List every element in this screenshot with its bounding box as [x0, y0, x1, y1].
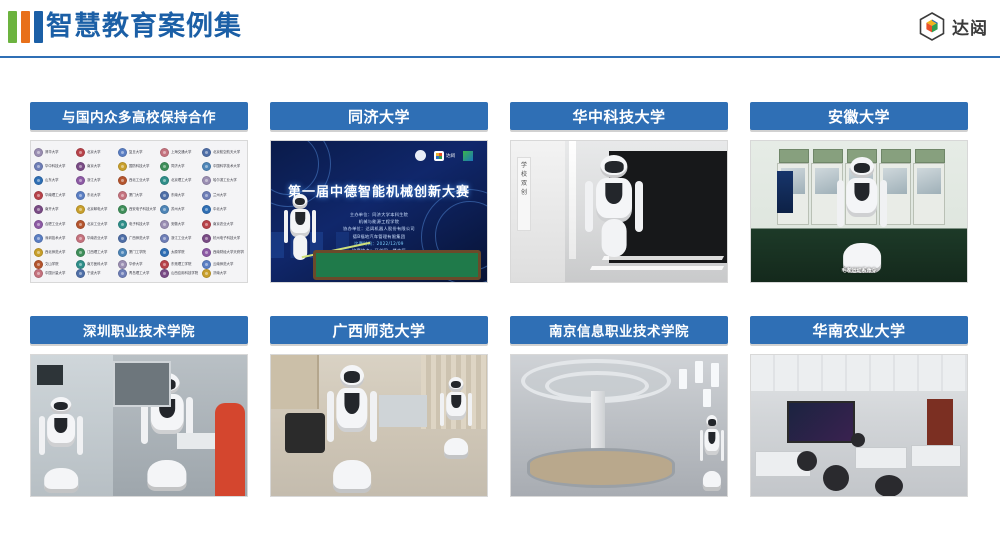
university-name: 西北工业大学: [129, 178, 149, 183]
case-card[interactable]: 深圳职业技术学院: [30, 316, 248, 497]
university-seal-icon: [202, 191, 211, 200]
university-seal-icon: [160, 162, 169, 171]
classroom-door: [927, 399, 953, 449]
card-media: 达闼 第一届中德智能机械创新大赛 主办单位：同济大学本科生院 机械与能源工程学院…: [270, 140, 488, 283]
page-title: 智慧教育案例集: [46, 9, 242, 45]
university-seal-icon: [118, 220, 127, 229]
university-name: 复旦大学: [129, 150, 143, 155]
university-seal-icon: [76, 191, 85, 200]
university-seal-icon: [202, 269, 211, 278]
university-name: 南开大学: [45, 207, 59, 212]
university-logo-item: 苏州大学: [160, 203, 202, 217]
robot-figure: [699, 415, 725, 491]
computer-classroom-image: [751, 355, 967, 496]
cloudminds-logo: 达闼: [434, 151, 455, 161]
university-logo-item: 厦门工学院: [118, 246, 160, 260]
split-robot-demo-image: [31, 355, 247, 496]
card-media: 学校双创: [510, 140, 728, 283]
university-logo-item: 广西师范大学: [118, 231, 160, 245]
case-card[interactable]: 南京信息职业技术学院: [510, 316, 728, 497]
university-logo-item: 北京邮电大学: [76, 203, 118, 217]
university-name: 广西师范大学: [129, 236, 149, 241]
university-name: 厦门工学院: [129, 250, 146, 255]
robot-figure: [835, 157, 889, 273]
university-name: 浙江大学: [87, 178, 101, 183]
university-logo-item: 华南农业大学: [76, 231, 118, 245]
university-logo-item: 杭州电子科技大学: [202, 231, 244, 245]
university-seal-icon: [34, 220, 43, 229]
university-seal-icon: [76, 205, 85, 214]
robot-figure: [37, 397, 85, 493]
university-logo-item: 山东大学: [34, 174, 76, 188]
university-name: 华中科技大学: [45, 164, 65, 169]
university-logo-item: 浙江大学: [76, 174, 118, 188]
university-seal-icon: [202, 234, 211, 243]
university-name: 兰州大学: [213, 193, 227, 198]
university-logo-item: 云南师范大学: [202, 260, 244, 269]
university-seal-icon: [202, 220, 211, 229]
university-logo-item: 东南大学: [160, 188, 202, 202]
lab-cabinet: [913, 163, 945, 225]
university-name: 东莞理工学院: [171, 262, 191, 267]
card-media: [750, 354, 968, 497]
university-name: 杭州电子科技大学: [213, 236, 240, 241]
card-media: [270, 354, 488, 497]
university-name: 安徽大学: [171, 222, 185, 227]
ceiling-light: [695, 361, 703, 383]
university-logo-item: 东莞理工学院: [160, 260, 202, 269]
university-logo-item: 青岛理工大学: [118, 269, 160, 278]
university-name: 南京大学: [87, 164, 101, 169]
ceiling-light: [679, 369, 687, 389]
storage-box: [779, 149, 809, 163]
university-seal-icon: [76, 234, 85, 243]
card-title-with-partners: 与国内众多高校保持合作: [30, 102, 248, 130]
university-name: 北京航空航天大学: [213, 150, 240, 155]
university-logo-item: 西安电子科技大学: [118, 203, 160, 217]
computer-desk: [911, 445, 961, 467]
robot-figure: [283, 194, 317, 276]
university-seal-icon: [415, 150, 426, 161]
university-logo-item: 浙江工业大学: [160, 231, 202, 245]
billiard-table-graphic: [313, 250, 481, 280]
accent-bar-orange: [21, 11, 30, 43]
university-seal-icon: [76, 162, 85, 171]
computer-desk: [855, 447, 907, 469]
card-title-anhui: 安徽大学: [750, 102, 968, 130]
university-logo-item: 中北大学: [202, 203, 244, 217]
university-seal-icon: [160, 205, 169, 214]
university-seal-icon: [76, 260, 85, 269]
university-name: 文山学院: [45, 262, 59, 267]
university-logo-item: 厦门大学: [118, 188, 160, 202]
cube-hexagon-icon: [919, 12, 945, 41]
competition-poster-image: 达闼 第一届中德智能机械创新大赛 主办单位：同济大学本科生院 机械与能源工程学院…: [271, 141, 487, 282]
university-name: 山西应用科技学院: [171, 271, 198, 276]
large-display-screen: [787, 401, 855, 443]
case-card-grid: 与国内众多高校保持合作 清华大学北京大学复旦大学上海交通大学北京航空航天大学华中…: [30, 102, 970, 497]
case-card[interactable]: 同济大学 达闼 第一届中德智: [270, 102, 488, 283]
university-logo-item: 太原学院: [160, 246, 202, 260]
atrium-robot-image: [511, 355, 727, 496]
university-seal-icon: [34, 191, 43, 200]
university-seal-icon: [118, 176, 127, 185]
storage-box: [915, 149, 945, 163]
hallway-robot-image: 学校双创: [511, 141, 727, 282]
card-title-guangxi-normal: 广西师范大学: [270, 316, 488, 344]
wall-monitor: [37, 365, 63, 385]
university-logo-item: 北京大学: [76, 145, 118, 159]
accent-bar-blue: [34, 11, 43, 43]
university-seal-icon: [118, 205, 127, 214]
classroom-robots-image: [271, 355, 487, 496]
slide-page: 智慧教育案例集 达闼 与国内众多高校保持合作 清华大学北京大学复旦大学上海交通大…: [0, 0, 1000, 538]
university-name: 东南大学: [171, 193, 185, 198]
card-title-nanjing-vocational: 南京信息职业技术学院: [510, 316, 728, 344]
university-name: 西北师范大学: [45, 250, 65, 255]
card-title-tongji: 同济大学: [270, 102, 488, 130]
university-seal-icon: [160, 234, 169, 243]
card-media: 毛孝运动系命令: [750, 140, 968, 283]
image-caption: 毛孝运动系命令: [751, 267, 967, 274]
university-seal-icon: [160, 148, 169, 157]
university-name: 华南理工大学: [45, 193, 65, 198]
university-logo-item: 深圳技术大学: [34, 231, 76, 245]
brand-name: 达闼: [952, 14, 988, 39]
university-name: 中国科学技术大学: [213, 164, 240, 169]
university-seal-icon: [118, 148, 127, 157]
university-seal-icon: [34, 205, 43, 214]
university-name: 北京大学: [87, 150, 101, 155]
case-card[interactable]: 广西师范大学: [270, 316, 488, 497]
university-logo-item: 北京理工大学: [160, 174, 202, 188]
university-name: 青岛理工大学: [129, 271, 149, 276]
university-name: 上海交通大学: [171, 150, 191, 155]
university-name: 山东大学: [45, 178, 59, 183]
card-title-shenzhen-polytechnic: 深圳职业技术学院: [30, 316, 248, 344]
university-logo-item: 济南大学: [202, 269, 244, 278]
window-frame: [113, 361, 171, 407]
reception-counter: [527, 448, 675, 488]
case-card[interactable]: 华中科技大学 学校双创: [510, 102, 728, 283]
university-logo-item: 山西应用科技学院: [160, 269, 202, 278]
university-seal-icon: [202, 176, 211, 185]
university-name: 深圳技术大学: [45, 236, 65, 241]
university-logo-item: 哈尔滨工业大学: [202, 174, 244, 188]
university-logo-item: 南京大学: [76, 159, 118, 173]
sponsor-logo-text: 达闼: [446, 153, 455, 159]
university-name: 苏州大学: [171, 207, 185, 212]
university-seal-icon: [34, 176, 43, 185]
university-seal-icon: [202, 205, 211, 214]
lab-cabinets-robot-image: 毛孝运动系命令: [751, 141, 967, 282]
university-name: 浙江工业大学: [171, 236, 191, 241]
university-name: 合肥工业大学: [45, 222, 65, 227]
university-name: 清华大学: [45, 150, 59, 155]
university-seal-icon: [118, 260, 127, 269]
university-seal-icon: [202, 162, 211, 171]
university-name: 厦门大学: [129, 193, 143, 198]
seated-student: [875, 475, 903, 497]
university-name: 哈尔滨工业大学: [213, 178, 237, 183]
sign-text: 学校双创: [519, 161, 529, 197]
page-header: 智慧教育案例集 达闼: [0, 0, 1000, 57]
ceiling-light: [703, 389, 711, 407]
podium-table: [379, 395, 427, 427]
seated-student: [797, 451, 817, 471]
poster-sponsor-logos: 达闼: [415, 150, 473, 161]
demo-table: [177, 433, 219, 449]
robot-figure: [583, 155, 645, 283]
accent-bars: [8, 11, 43, 43]
university-seal-icon: [34, 248, 43, 257]
university-seal-icon: [160, 260, 169, 269]
university-logo-item: 北京工业大学: [76, 217, 118, 231]
university-seal-icon: [160, 220, 169, 229]
robot-figure: [325, 365, 379, 493]
person-in-red-shirt: [215, 403, 245, 497]
university-name: 华南农业大学: [87, 236, 107, 241]
university-logo-item: 上海交通大学: [160, 145, 202, 159]
university-logo-item: 西北师范大学: [34, 246, 76, 260]
university-seal-icon: [160, 176, 169, 185]
university-seal-icon: [76, 176, 85, 185]
university-seal-icon: [118, 234, 127, 243]
card-media: [510, 354, 728, 497]
university-logo-item: 北京航空航天大学: [202, 145, 244, 159]
university-seal-icon: [118, 162, 127, 171]
university-logo-item: 安徽大学: [160, 217, 202, 231]
university-logo-item: 中国计量大学: [34, 269, 76, 278]
university-name: 中国计量大学: [45, 271, 65, 276]
university-name: 同济大学: [171, 164, 185, 169]
university-logo-item: 西北工业大学: [118, 174, 160, 188]
university-logo-item: 南方医科大学: [76, 260, 118, 269]
university-logo-wall: 清华大学北京大学复旦大学上海交通大学北京航空航天大学华中科技大学南京大学国防科技…: [31, 141, 247, 282]
card-media: 清华大学北京大学复旦大学上海交通大学北京航空航天大学华中科技大学南京大学国防科技…: [30, 140, 248, 283]
university-logo-item: 兰州大学: [202, 188, 244, 202]
university-seal-icon: [202, 260, 211, 269]
university-name: 中北大学: [213, 207, 227, 212]
university-name: 江西理工大学: [87, 250, 107, 255]
university-logo-item: 电子科技大学: [118, 217, 160, 231]
partner-logo-icon: [463, 151, 473, 161]
office-chair: [285, 413, 325, 453]
university-seal-icon: [34, 234, 43, 243]
university-name: 南方医科大学: [87, 262, 107, 267]
university-name: 宁波大学: [87, 271, 101, 276]
cube-hexagon-icon: [434, 151, 444, 161]
card-title-hust: 华中科技大学: [510, 102, 728, 130]
university-seal-icon: [160, 191, 169, 200]
university-logo-item: 南京农业大学: [202, 217, 244, 231]
university-logo-item: 合肥工业大学: [34, 217, 76, 231]
university-name: 北京工业大学: [87, 222, 107, 227]
university-seal-icon: [118, 248, 127, 257]
university-name: 西南财经大学天府学院: [213, 250, 244, 255]
university-seal-icon: [202, 248, 211, 257]
case-card[interactable]: 安徽大学: [750, 102, 968, 283]
university-logo-item: 华南理工大学: [34, 188, 76, 202]
university-logo-item: 中国科学技术大学: [202, 159, 244, 173]
digital-signage-screen: [777, 171, 793, 213]
university-logo-item: 华侨大学: [118, 260, 160, 269]
university-name: 电子科技大学: [129, 222, 149, 227]
card-media: [30, 354, 248, 497]
university-name: 西安电子科技大学: [129, 207, 156, 212]
seated-student: [823, 465, 849, 491]
robot-figure: [439, 377, 473, 459]
university-seal-icon: [34, 162, 43, 171]
ceiling-tiles: [751, 355, 967, 391]
wall-shelf: [271, 355, 319, 409]
card-title-scau: 华南农业大学: [750, 316, 968, 344]
university-logo-item: 文山学院: [34, 260, 76, 269]
university-logo-item: 宁波大学: [76, 269, 118, 278]
university-name: 北京邮电大学: [87, 207, 107, 212]
central-column: [591, 391, 605, 453]
university-seal-icon: [118, 191, 127, 200]
university-seal-icon: [118, 269, 127, 278]
university-logo-item: 西南财经大学天府学院: [202, 246, 244, 260]
light-column: [569, 141, 576, 259]
university-logo-item: 复旦大学: [118, 145, 160, 159]
standing-teacher: [851, 433, 865, 447]
university-seal-icon: [34, 148, 43, 157]
university-logo-item: 国防科技大学: [118, 159, 160, 173]
brand-logo: 达闼: [919, 12, 988, 41]
university-seal-icon: [34, 269, 43, 278]
university-name: 北京理工大学: [171, 178, 191, 183]
case-card[interactable]: 华南农业大学: [750, 316, 968, 497]
university-logo-item: 华中科技大学: [34, 159, 76, 173]
university-seal-icon: [160, 269, 169, 278]
university-name: 云南师范大学: [213, 262, 233, 267]
university-seal-icon: [160, 248, 169, 257]
case-card[interactable]: 与国内众多高校保持合作 清华大学北京大学复旦大学上海交通大学北京航空航天大学华中…: [30, 102, 248, 283]
university-logo-item: 南开大学: [34, 203, 76, 217]
university-name: 济南大学: [213, 271, 227, 276]
university-name: 国防科技大学: [129, 164, 149, 169]
accent-bar-green: [8, 11, 17, 43]
university-name: 东北大学: [87, 193, 101, 198]
university-logo-item: 江西理工大学: [76, 246, 118, 260]
university-seal-icon: [34, 260, 43, 269]
ceiling-light: [711, 363, 719, 387]
left-photo-panel: [31, 355, 113, 496]
university-name: 太原学院: [171, 250, 185, 255]
header-divider: [0, 56, 1000, 58]
university-seal-icon: [76, 220, 85, 229]
university-seal-icon: [202, 148, 211, 157]
university-seal-icon: [76, 248, 85, 257]
university-seal-icon: [76, 269, 85, 278]
university-logo-item: 同济大学: [160, 159, 202, 173]
university-logo-item: 清华大学: [34, 145, 76, 159]
university-name: 南京农业大学: [213, 222, 233, 227]
university-name: 华侨大学: [129, 262, 143, 267]
university-logo-item: 东北大学: [76, 188, 118, 202]
university-seal-icon: [76, 148, 85, 157]
